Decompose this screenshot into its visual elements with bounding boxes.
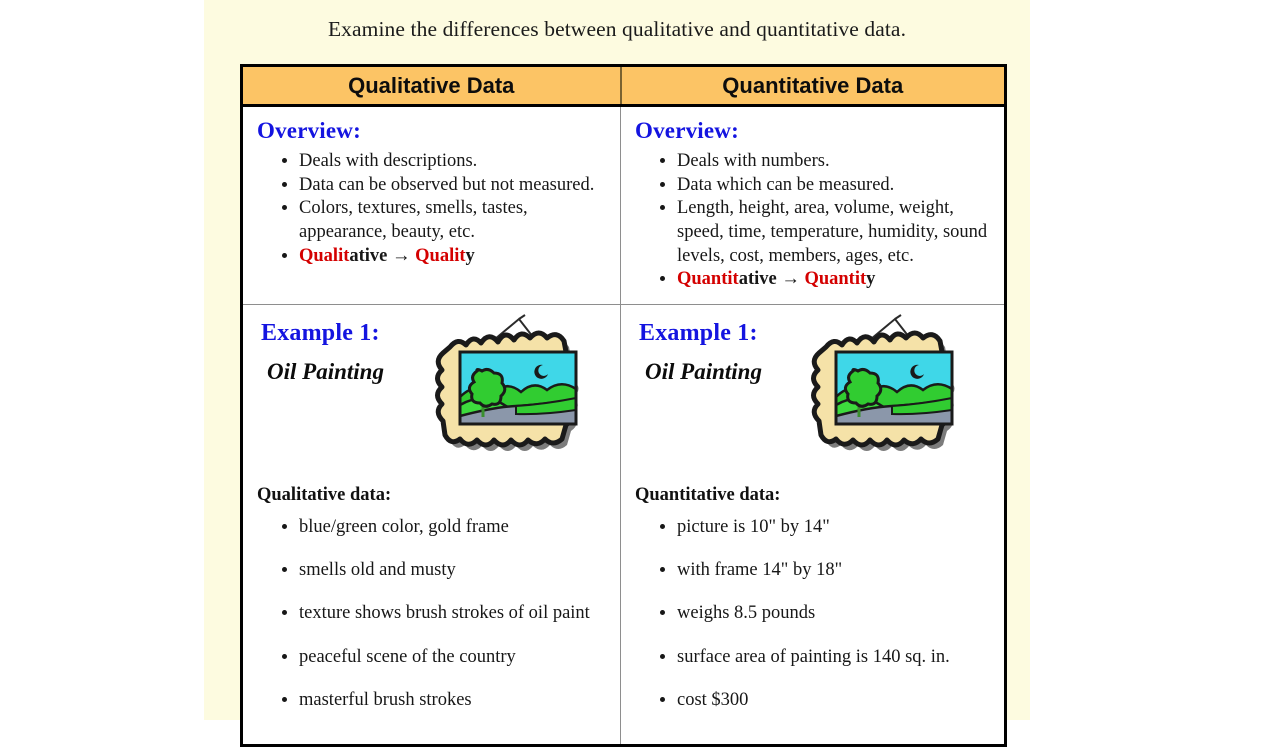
example-heading-qualitative: Example 1:: [261, 320, 384, 347]
table-row-overview: Overview: Deals with descriptions. Data …: [242, 106, 1006, 305]
list-item: masterful brush strokes: [299, 689, 608, 711]
page-root: Examine the differences between qualitat…: [0, 0, 1280, 720]
table-row-example-1: Example 1: Oil Painting: [242, 305, 1006, 746]
keyword-root: Qualit: [299, 246, 349, 266]
overview-heading-quantitative: Overview:: [635, 118, 992, 144]
list-item: Data can be observed but not measured.: [299, 174, 608, 198]
list-item: Colors, textures, smells, tastes, appear…: [299, 197, 608, 244]
keyword-suffix: ative: [349, 246, 387, 266]
oil-painting-image-qualitative: [433, 313, 603, 463]
tree-icon: [469, 369, 504, 406]
tree-icon: [845, 369, 880, 406]
keyword-root: Quantit: [677, 269, 739, 289]
list-item: Length, height, area, volume, weight, sp…: [677, 197, 992, 268]
document-paper: Examine the differences between qualitat…: [204, 0, 1030, 720]
column-header-quantitative: Quantitative Data: [621, 66, 1006, 106]
example-header-block-quantitative: Example 1: Oil Painting: [631, 313, 992, 463]
list-item: peaceful scene of the country: [299, 646, 608, 668]
list-item: picture is 10" by 14": [677, 516, 992, 538]
page-title: Examine the differences between qualitat…: [204, 17, 1030, 42]
data-label-qualitative: Qualitative data:: [257, 485, 608, 506]
oil-painting-image-quantitative: [809, 313, 979, 463]
arrow-glyph: →: [387, 246, 415, 266]
list-item: cost $300: [677, 689, 992, 711]
list-item: with frame 14" by 18": [677, 559, 992, 581]
list-item: Deals with descriptions.: [299, 150, 608, 174]
example-labels: Example 1: Oil Painting: [635, 317, 762, 385]
list-item: Data which can be measured.: [677, 174, 992, 198]
example-subject-qualitative: Oil Painting: [267, 359, 384, 385]
example-header-block-qualitative: Example 1: Oil Painting: [253, 313, 608, 463]
list-item: surface area of painting is 140 sq. in.: [677, 646, 992, 668]
column-header-qualitative: Qualitative Data: [242, 66, 621, 106]
list-item: texture shows brush strokes of oil paint: [299, 602, 608, 624]
example-subject-quantitative: Oil Painting: [645, 359, 762, 385]
arrow-glyph: →: [777, 269, 805, 289]
keyword-suffix-2: y: [866, 269, 875, 289]
keyword-suffix-2: y: [466, 246, 475, 266]
list-item: weighs 8.5 pounds: [677, 602, 992, 624]
table-header-row: Qualitative Data Quantitative Data: [242, 66, 1006, 106]
example-labels: Example 1: Oil Painting: [257, 317, 384, 385]
list-item-highlight: Qualitative → Quality: [299, 245, 608, 269]
cell-example1-qualitative: Example 1: Oil Painting: [242, 305, 621, 746]
list-item: smells old and musty: [299, 559, 608, 581]
overview-heading-qualitative: Overview:: [257, 118, 608, 144]
list-item: Deals with numbers.: [677, 150, 992, 174]
example-bullets-qualitative: blue/green color, gold frame smells old …: [253, 516, 608, 711]
keyword-suffix: ative: [739, 269, 777, 289]
cell-example1-quantitative: Example 1: Oil Painting: [621, 305, 1006, 746]
cell-overview-qualitative: Overview: Deals with descriptions. Data …: [242, 106, 621, 305]
list-item: blue/green color, gold frame: [299, 516, 608, 538]
cell-overview-quantitative: Overview: Deals with numbers. Data which…: [621, 106, 1006, 305]
example-heading-quantitative: Example 1:: [639, 320, 762, 347]
overview-bullets-quantitative: Deals with numbers. Data which can be me…: [631, 150, 992, 292]
data-label-quantitative: Quantitative data:: [635, 485, 992, 506]
comparison-table: Qualitative Data Quantitative Data Overv…: [240, 64, 1007, 747]
overview-bullets-qualitative: Deals with descriptions. Data can be obs…: [253, 150, 608, 268]
keyword-root-2: Qualit: [415, 246, 465, 266]
example-bullets-quantitative: picture is 10" by 14" with frame 14" by …: [631, 516, 992, 711]
list-item-highlight: Quantitative → Quantity: [677, 268, 992, 292]
keyword-root-2: Quantit: [804, 269, 866, 289]
